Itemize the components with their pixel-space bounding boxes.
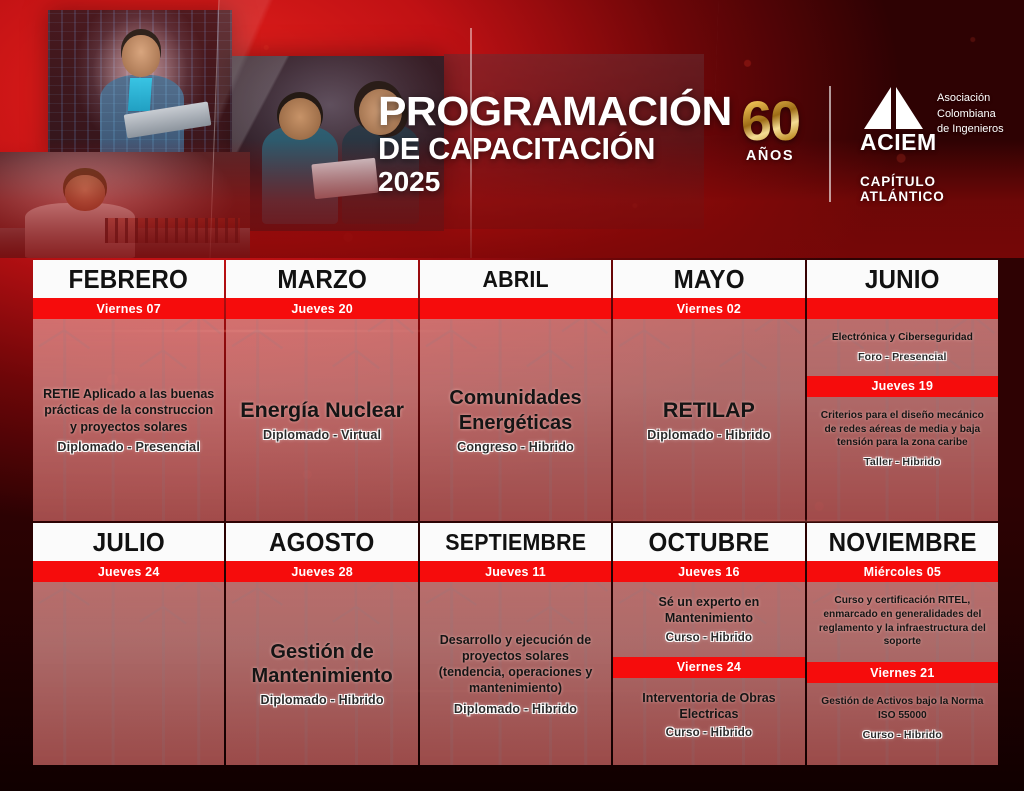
month-column-octubre[interactable]: OCTUBREJueves 16Sé un experto en Manteni…: [613, 523, 804, 765]
event-title: Curso y certificación RITEL, enmarcado e…: [816, 594, 989, 649]
event-date-bar[interactable]: Jueves 11: [420, 561, 611, 582]
event-date-bar[interactable]: Jueves 28: [226, 561, 417, 582]
chapter-label: CAPÍTULO ATLÁNTICO: [860, 174, 1024, 204]
event-date-bar[interactable]: Jueves 19: [807, 376, 998, 397]
event-cell[interactable]: Interventoria de Obras ElectricasCurso -…: [613, 678, 804, 753]
event-modality: Congreso - Hibrido: [457, 440, 574, 454]
event-title: Desarrollo y ejecución de proyectos sola…: [430, 632, 601, 697]
event-cell[interactable]: Curso y certificación RITEL, enmarcado e…: [807, 582, 998, 662]
month-header: JULIO: [33, 523, 224, 561]
calendar-row: JULIOJueves 24AGOSTOJueves 28Gestión de …: [33, 523, 998, 765]
month-name: JULIO: [93, 527, 165, 558]
month-header: MAYO: [613, 260, 804, 298]
month-column-julio[interactable]: JULIOJueves 24: [33, 523, 224, 765]
event-modality: Foro - Presencial: [858, 351, 947, 363]
event-date-bar[interactable]: Miércoles 05: [807, 561, 998, 582]
aciem-tagline: Asociación Colombiana de Ingenieros: [937, 86, 1004, 138]
month-name: MARZO: [277, 264, 367, 295]
month-header: MARZO: [226, 260, 417, 298]
month-header: AGOSTO: [226, 523, 417, 561]
aciem-tagline-line2: Colombiana: [937, 107, 1004, 123]
aciem-wordmark: ACIEM: [860, 131, 926, 154]
event-cell[interactable]: [33, 582, 224, 765]
anniversary-number: 60: [722, 96, 818, 146]
month-header: JUNIO: [807, 260, 998, 298]
event-title: Comunidades Energéticas: [430, 386, 601, 435]
month-column-marzo[interactable]: MARZOJueves 20Energía NuclearDiplomado -…: [226, 260, 417, 521]
aciem-logo-mark: ACIEM: [860, 86, 926, 154]
month-name: FEBRERO: [69, 264, 189, 295]
month-header: SEPTIEMBRE: [420, 523, 611, 561]
event-cell[interactable]: RETILAPDiplomado - Hibrido: [613, 319, 804, 521]
event-title: Interventoria de Obras Electricas: [622, 690, 795, 723]
month-name: OCTUBRE: [648, 527, 769, 558]
month-name: JUNIO: [865, 264, 940, 295]
event-cell[interactable]: Energía NuclearDiplomado - Virtual: [226, 319, 417, 521]
event-date-bar[interactable]: Jueves 16: [613, 561, 804, 582]
cell-spacer: [807, 754, 998, 765]
month-column-abril[interactable]: ABRIL Comunidades EnergéticasCongreso - …: [420, 260, 611, 521]
event-cell[interactable]: Electrónica y CiberseguridadForo - Prese…: [807, 319, 998, 376]
anniversary-badge: 60 AÑOS: [722, 96, 818, 164]
month-name: ABRIL: [482, 266, 548, 293]
month-column-noviembre[interactable]: NOVIEMBREMiércoles 05Curso y certificaci…: [807, 523, 998, 765]
event-date-bar[interactable]: [807, 298, 998, 319]
poster-canvas: PROGRAMACIÓN DE CAPACITACIÓN 2025 60 AÑO…: [0, 0, 1024, 791]
page-year: 2025: [378, 167, 698, 198]
month-header: ABRIL: [420, 260, 611, 298]
photo-technician-bench: [0, 152, 250, 258]
month-column-febrero[interactable]: FEBREROViernes 07RETIE Aplicado a las bu…: [33, 260, 224, 521]
event-date-bar[interactable]: Viernes 02: [613, 298, 804, 319]
event-title: Gestión de Mantenimiento: [236, 640, 407, 689]
triangle-icon: [860, 86, 926, 130]
aciem-logo: ACIEM Asociación Colombiana de Ingeniero…: [860, 86, 1004, 154]
event-title: Energía Nuclear: [240, 398, 404, 424]
cell-spacer: [807, 481, 998, 521]
event-date-bar[interactable]: [420, 298, 611, 319]
cell-spacer: [613, 752, 804, 765]
event-cell[interactable]: Gestión de MantenimientoDiplomado - Hibr…: [226, 582, 417, 765]
event-title: Electrónica y Ciberseguridad: [832, 331, 973, 345]
event-cell[interactable]: Gestión de Activos bajo la Norma ISO 550…: [807, 683, 998, 754]
event-date-bar[interactable]: Jueves 24: [33, 561, 224, 582]
month-name: SEPTIEMBRE: [445, 529, 586, 556]
event-modality: Curso - Hibrido: [863, 729, 942, 741]
event-date-bar[interactable]: Viernes 21: [807, 662, 998, 683]
event-cell[interactable]: Desarrollo y ejecución de proyectos sola…: [420, 582, 611, 765]
month-column-agosto[interactable]: AGOSTOJueves 28Gestión de MantenimientoD…: [226, 523, 417, 765]
lanyard: [128, 78, 152, 111]
page-subtitle: DE CAPACITACIÓN: [378, 133, 698, 165]
event-title: Gestión de Activos bajo la Norma ISO 550…: [816, 695, 989, 723]
event-date-bar[interactable]: Jueves 20: [226, 298, 417, 319]
event-modality: Diplomado - Presencial: [57, 440, 200, 454]
event-modality: Curso - Hibrido: [666, 727, 753, 739]
month-header: OCTUBRE: [613, 523, 804, 561]
event-cell[interactable]: Sé un experto en MantenimientoCurso - Hi…: [613, 582, 804, 657]
event-title: Sé un experto en Mantenimiento: [622, 594, 795, 627]
event-title: Criterios para el diseño mecánico de red…: [816, 409, 989, 450]
event-title: RETILAP: [663, 398, 755, 424]
event-modality: Curso - Hibrido: [666, 632, 753, 644]
aciem-tagline-line1: Asociación: [937, 91, 1004, 107]
event-title: RETIE Aplicado a las buenas prácticas de…: [43, 386, 214, 435]
event-cell[interactable]: RETIE Aplicado a las buenas prácticas de…: [33, 319, 224, 521]
event-modality: Diplomado - Hibrido: [454, 702, 577, 716]
page-title: PROGRAMACIÓN: [378, 92, 711, 131]
vertical-divider: [829, 86, 831, 202]
calendar-row: FEBREROViernes 07RETIE Aplicado a las bu…: [33, 260, 998, 521]
calendar-grid: FEBREROViernes 07RETIE Aplicado a las bu…: [33, 260, 998, 765]
month-header: FEBRERO: [33, 260, 224, 298]
event-modality: Diplomado - Hibrido: [260, 693, 383, 707]
event-date-bar[interactable]: Viernes 24: [613, 657, 804, 678]
event-cell[interactable]: Comunidades EnergéticasCongreso - Hibrid…: [420, 319, 611, 521]
photo-engineer-server-room: [48, 10, 232, 158]
event-modality: Diplomado - Virtual: [263, 428, 381, 442]
event-date-bar[interactable]: Viernes 07: [33, 298, 224, 319]
poster-title-block: PROGRAMACIÓN DE CAPACITACIÓN 2025: [378, 92, 698, 197]
event-modality: Diplomado - Hibrido: [647, 428, 770, 442]
month-column-mayo[interactable]: MAYOViernes 02RETILAPDiplomado - Hibrido: [613, 260, 804, 521]
month-name: MAYO: [673, 264, 744, 295]
event-modality: Taller - Hibrido: [864, 456, 941, 468]
month-name: NOVIEMBRE: [828, 527, 976, 558]
event-cell[interactable]: Criterios para el diseño mecánico de red…: [807, 397, 998, 481]
electronic-components: [105, 218, 240, 243]
aciem-tagline-line3: de Ingenieros: [937, 122, 1004, 138]
month-header: NOVIEMBRE: [807, 523, 998, 561]
technician-head: [65, 175, 105, 211]
month-column-septiembre[interactable]: SEPTIEMBREJueves 11Desarrollo y ejecució…: [420, 523, 611, 765]
month-column-junio[interactable]: JUNIO Electrónica y CiberseguridadForo -…: [807, 260, 998, 521]
month-name: AGOSTO: [269, 527, 374, 558]
